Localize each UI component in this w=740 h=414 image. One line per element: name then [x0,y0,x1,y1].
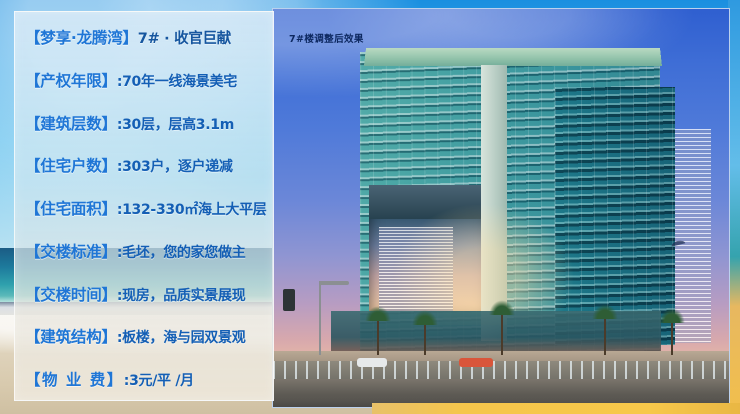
spec-value: :现房，品质实景展现 [117,285,246,305]
spec-value: :303户，逐户递减 [117,156,233,176]
spec-label: 【住宅面积】 [25,197,117,219]
bottom-edge-band [372,403,740,414]
spec-value: :132-330㎡海上大平层 [117,199,267,219]
spec-row-property-fee: 【物 业 费】:3元/平 /月 [15,368,273,390]
spec-row-delivery-standard: 【交楼标准】:毛坯，您的家您做主 [15,240,273,262]
spec-value: :毛坯，您的家您做主 [117,242,246,262]
car-red [459,358,493,367]
building-render-image: 7#楼调整后效果 [272,8,730,408]
spec-label: 【物 业 费】 [25,368,124,390]
spec-row-building-structure: 【建筑结构】:板楼，海与园双景观 [15,325,273,347]
palm-tree [659,323,685,355]
render-caption: 7#楼调整后效果 [289,31,364,45]
spec-value: :30层，层高3.1m [117,114,234,134]
poster-canvas: 7#楼调整后效果 【梦享·龙腾湾】7# · 收官巨献【产权年限】:70年一线海景… [0,0,740,414]
spec-row-delivery-time: 【交楼时间】:现房，品质实景展现 [15,283,273,305]
spec-label: 【住宅户数】 [25,154,117,176]
spec-row-unit-count: 【住宅户数】:303户，逐户递减 [15,154,273,176]
spec-value: :板楼，海与园双景观 [117,327,246,347]
spec-label: 【梦享·龙腾湾】 [25,26,138,48]
spec-label: 【建筑结构】 [25,325,117,347]
spec-label: 【建筑层数】 [25,112,117,134]
palm-tree [591,319,619,355]
tower-roof-cap [364,48,662,66]
spec-value: :3元/平 /月 [124,370,194,390]
traffic-light-icon [283,289,295,311]
car-white [357,358,387,367]
spec-label: 【交楼标准】 [25,240,117,262]
street-lamp-icon [319,281,321,355]
spec-value: :70年一线海景美宅 [117,71,237,91]
palm-tree [365,321,391,355]
street-fence [273,361,729,381]
spec-row-floor-count: 【建筑层数】:30层，层高3.1m [15,112,273,134]
portal-distant-tower [379,227,453,311]
spec-panel: 【梦享·龙腾湾】7# · 收官巨献【产权年限】:70年一线海景美宅【建筑层数】:… [14,11,274,401]
spec-label: 【产权年限】 [25,69,117,91]
spec-row-project-title: 【梦享·龙腾湾】7# · 收官巨献 [15,26,273,48]
spec-row-unit-area: 【住宅面积】:132-330㎡海上大平层 [15,197,273,219]
portal-lintel [369,185,489,219]
spec-row-property-term: 【产权年限】:70年一线海景美宅 [15,69,273,91]
palm-tree [413,325,437,355]
palm-tree [487,315,517,355]
spec-label: 【交楼时间】 [25,283,117,305]
building-portal-opening [369,185,489,311]
spec-value: 7# · 收官巨献 [138,27,231,48]
